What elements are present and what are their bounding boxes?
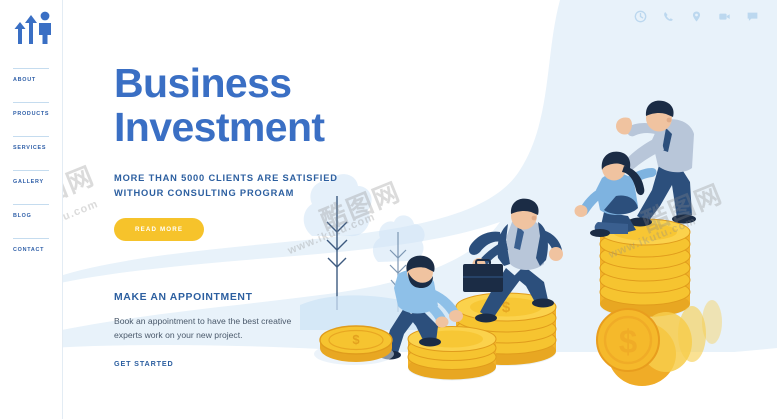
subtitle-line-2: WITHOUR CONSULTING PROGRAM bbox=[114, 186, 414, 201]
hero-section: Business Investment MORE THAN 5000 CLIEN… bbox=[114, 62, 414, 241]
sidebar-item-services[interactable]: SERVICES bbox=[13, 136, 57, 151]
sidebar-nav: ABOUT PRODUCTS SERVICES GALLERY BLOG CON… bbox=[13, 68, 57, 272]
subtitle-line-1: MORE THAN 5000 CLIENTS ARE SATISFIED bbox=[114, 171, 414, 186]
sidebar-item-about[interactable]: ABOUT bbox=[13, 68, 57, 83]
get-started-link[interactable]: GET STARTED bbox=[114, 359, 174, 368]
sidebar-item-gallery[interactable]: GALLERY bbox=[13, 170, 57, 185]
sidebar-item-label: ABOUT bbox=[13, 77, 57, 83]
sidebar-item-label: GALLERY bbox=[13, 179, 57, 185]
video-camera-icon[interactable] bbox=[717, 9, 731, 23]
sidebar-item-blog[interactable]: BLOG bbox=[13, 204, 57, 219]
sidebar-item-label: BLOG bbox=[13, 213, 57, 219]
landing-page: $ bbox=[0, 0, 777, 419]
top-icon-bar bbox=[633, 9, 759, 23]
sidebar-item-label: PRODUCTS bbox=[13, 111, 57, 117]
growth-arrows-person-icon[interactable] bbox=[12, 10, 56, 46]
location-pin-icon[interactable] bbox=[689, 9, 703, 23]
headline-line-2: Investment bbox=[114, 106, 414, 150]
appointment-section: MAKE AN APPOINTMENT Book an appointment … bbox=[114, 292, 329, 371]
chat-bubble-icon[interactable] bbox=[745, 9, 759, 23]
headline-line-1: Business bbox=[114, 60, 292, 106]
hero-subtitle: MORE THAN 5000 CLIENTS ARE SATISFIED WIT… bbox=[114, 171, 414, 201]
appointment-body-line-1: Book an appointment to have the best cre… bbox=[114, 314, 329, 328]
sidebar: ABOUT PRODUCTS SERVICES GALLERY BLOG CON… bbox=[0, 0, 63, 419]
sidebar-item-products[interactable]: PRODUCTS bbox=[13, 102, 57, 117]
sidebar-item-contact[interactable]: CONTACT bbox=[13, 238, 57, 253]
page-title: Business Investment bbox=[114, 62, 414, 150]
sidebar-item-label: CONTACT bbox=[13, 247, 57, 253]
appointment-body-line-2: experts work on your new project. bbox=[114, 328, 329, 342]
sidebar-divider bbox=[62, 0, 63, 419]
appointment-body: Book an appointment to have the best cre… bbox=[114, 314, 329, 342]
clock-icon[interactable] bbox=[633, 9, 647, 23]
sidebar-item-label: SERVICES bbox=[13, 145, 57, 151]
appointment-title: MAKE AN APPOINTMENT bbox=[114, 292, 329, 303]
read-more-button[interactable]: READ MORE bbox=[114, 218, 204, 241]
phone-icon[interactable] bbox=[661, 9, 675, 23]
